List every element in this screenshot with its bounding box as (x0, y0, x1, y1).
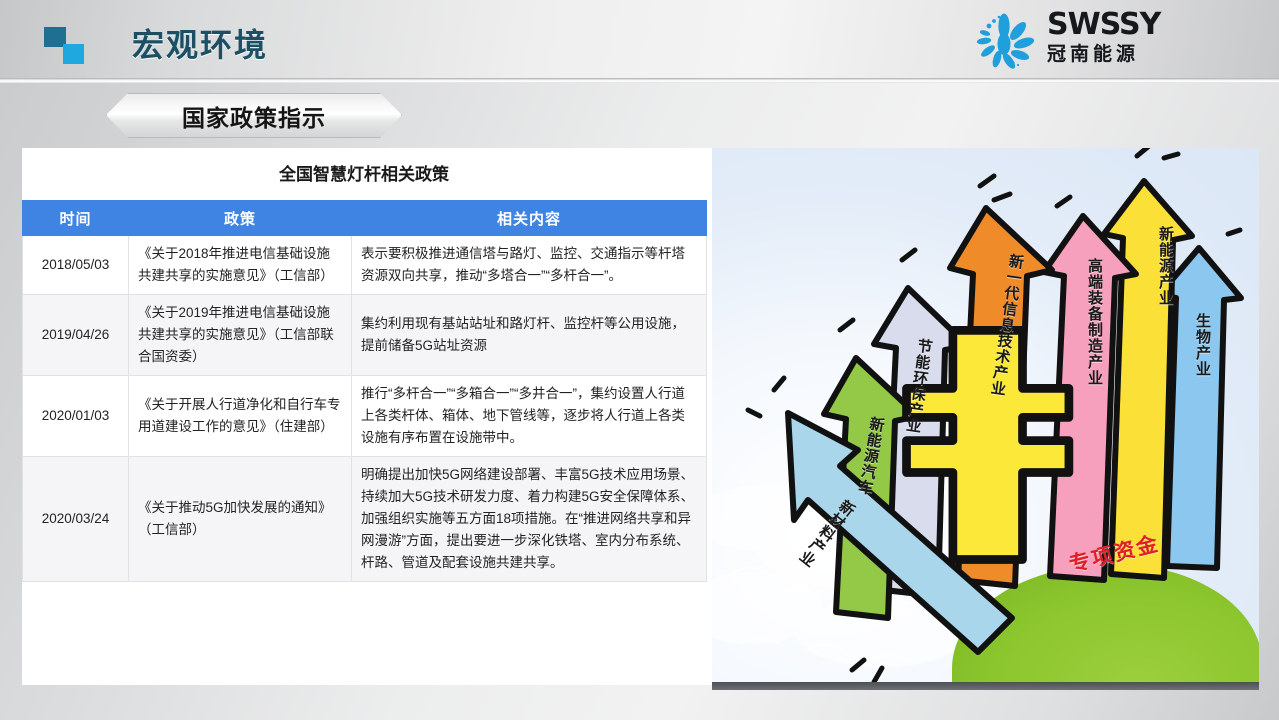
brand-text: SWSSY 冠南能源 (1047, 8, 1237, 67)
table-row: 2019/04/26 《关于2019年推进电信基础设施共建共享的实施意见》（工信… (23, 295, 707, 376)
slide-root: 宏观环境 (0, 0, 1279, 720)
two-squares-icon (44, 27, 92, 63)
table-row: 2018/05/03 《关于2018年推进电信基础设施共建共享的实施意见》（工信… (23, 236, 707, 295)
brand-logo: SWSSY 冠南能源 (969, 8, 1237, 72)
page-title: 宏观环境 (132, 20, 268, 66)
rising-industry-arrows-illustration: 新能源产业 高端装备制造产业 新一代信息技术产业 生物产业 节能环保产业 新能源… (712, 148, 1259, 690)
slide-header: 宏观环境 (0, 0, 1279, 80)
cell-policy: 《关于推动5G加快发展的通知》（工信部） (129, 457, 352, 582)
section-label: 国家政策指示 (106, 93, 402, 138)
cell-content: 推行“多杆合一”“多箱合一”“多井合一”，集约设置人行道上各类杆体、箱体、地下管… (352, 376, 707, 457)
table-row: 2020/01/03 《关于开展人行道净化和自行车专用道建设工作的意见》（住建部… (23, 376, 707, 457)
policy-table: 时间 政策 相关内容 2018/05/03 《关于2018年推进电信基础设施共建… (22, 200, 707, 582)
cell-date: 2018/05/03 (23, 236, 129, 295)
cell-policy: 《关于开展人行道净化和自行车专用道建设工作的意见》（住建部） (129, 376, 352, 457)
cell-date: 2020/03/24 (23, 457, 129, 582)
illustration-bottom-bar (712, 682, 1259, 690)
water-droplet-circle-logo (969, 10, 1039, 70)
square-light (63, 44, 84, 64)
brand-name: SWSSY (1047, 8, 1237, 42)
section-banner[interactable]: 国家政策指示 (106, 93, 402, 138)
cell-content: 表示要积极推进通信塔与路灯、监控、交通指示等杆塔资源双向共享，推动“多塔合一”“… (352, 236, 707, 295)
cell-content: 明确提出加快5G网络建设部署、丰富5G技术应用场景、持续加大5G技术研发力度、着… (352, 457, 707, 582)
header-divider (0, 78, 1279, 83)
column-header-policy: 政策 (129, 201, 352, 236)
cell-date: 2019/04/26 (23, 295, 129, 376)
cell-policy: 《关于2018年推进电信基础设施共建共享的实施意见》（工信部） (129, 236, 352, 295)
brand-subtitle: 冠南能源 (1047, 43, 1237, 67)
column-header-time: 时间 (23, 201, 129, 236)
cell-policy: 《关于2019年推进电信基础设施共建共享的实施意见》（工信部联合国资委） (129, 295, 352, 376)
arrow-bundle (712, 148, 1259, 684)
cell-content: 集约利用现有基站站址和路灯杆、监控杆等公用设施，提前储备5G站址资源 (352, 295, 707, 376)
table-title: 全国智慧灯杆相关政策 (22, 160, 706, 185)
column-header-content: 相关内容 (352, 201, 707, 236)
cell-date: 2020/01/03 (23, 376, 129, 457)
table-row: 2020/03/24 《关于推动5G加快发展的通知》（工信部） 明确提出加快5G… (23, 457, 707, 582)
table-header-row: 时间 政策 相关内容 (23, 201, 707, 236)
